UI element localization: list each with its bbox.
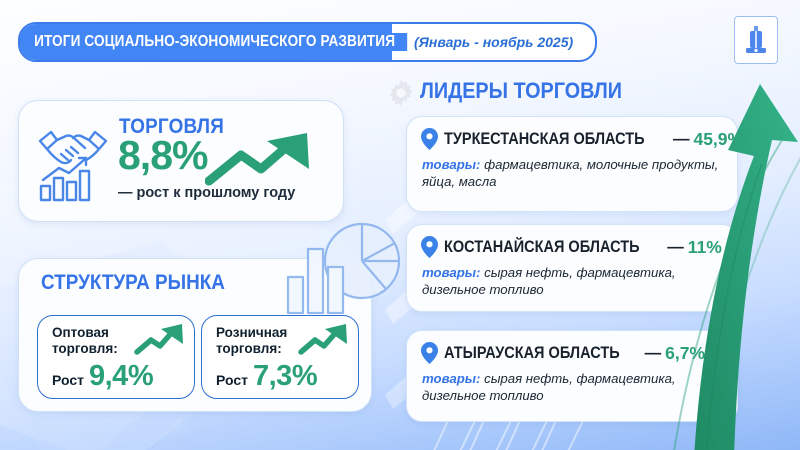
market-structure-title: СТРУКТУРА РЫНКА — [41, 271, 225, 295]
wholesale-label: Оптоваяторговля: — [52, 325, 118, 357]
big-green-up-arrow — [676, 78, 800, 450]
goods-label: товары: — [422, 157, 480, 172]
trade-subtitle: — рост к прошлому году — [118, 185, 295, 201]
monument-logo-icon — [743, 24, 769, 56]
handshake-bar-chart-icon — [35, 123, 111, 203]
header-title-container: ИТОГИ СОЦИАЛЬНО-ЭКОНОМИЧЕСКОГО РАЗВИТИЯ — [20, 24, 392, 60]
wholesale-growth-word: Рост — [52, 372, 84, 388]
map-pin-icon — [421, 342, 438, 364]
infographic-root: ИТОГИ СОЦИАЛЬНО-ЭКОНОМИЧЕСКОГО РАЗВИТИЯ … — [0, 0, 800, 450]
wholesale-growth: Рост 9,4% — [52, 362, 153, 391]
header-banner: ИТОГИ СОЦИАЛЬНО-ЭКОНОМИЧЕСКОГО РАЗВИТИЯ … — [18, 22, 597, 58]
map-pin-icon — [421, 128, 438, 150]
map-pin-icon — [421, 236, 438, 258]
trade-value: 8,8% — [118, 135, 207, 176]
trend-up-arrow-icon — [298, 322, 350, 356]
trend-up-arrow-icon — [205, 129, 317, 189]
wholesale-trade-card: Оптоваяторговля: Рост 9,4% — [37, 315, 195, 399]
leaders-header: ЛИДЕРЫ ТОРГОВЛИ — [420, 78, 644, 104]
pie-bar-chart-icon — [274, 219, 409, 324]
retail-growth: Рост 7,3% — [216, 362, 317, 391]
leaders-title: ЛИДЕРЫ ТОРГОВЛИ — [420, 78, 622, 104]
leader-region-name: КОСТАНАЙСКАЯ ОБЛАСТЬ — [444, 238, 640, 257]
leader-heading: АТЫРАУСКАЯ ОБЛАСТЬ — 6,7% — [421, 342, 705, 364]
retail-trade-card: Розничнаяторговля: Рост 7,3% — [201, 315, 359, 399]
retail-growth-value: 7,3% — [253, 362, 317, 391]
goods-label: товары: — [422, 265, 480, 280]
goods-label: товары: — [422, 371, 480, 386]
retail-label: Розничнаяторговля: — [216, 325, 287, 357]
wholesale-growth-value: 9,4% — [89, 362, 153, 391]
leader-dash: — — [645, 344, 662, 363]
retail-growth-word: Рост — [216, 372, 248, 388]
institution-logo — [734, 16, 778, 64]
leader-region-name: АТЫРАУСКАЯ ОБЛАСТЬ — [444, 344, 620, 363]
header-pill: ИТОГИ СОЦИАЛЬНО-ЭКОНОМИЧЕСКОГО РАЗВИТИЯ … — [18, 22, 597, 62]
market-structure-card: СТРУКТУРА РЫНКА Оптоваяторговля: Рост 9,… — [18, 258, 372, 412]
leader-region-name: ТУРКЕСТАНСКАЯ ОБЛАСТЬ — [444, 130, 645, 149]
trade-summary-card: ТОРГОВЛЯ 8,8% — рост к прошлому году — [18, 100, 344, 222]
trend-up-arrow-icon — [134, 322, 186, 356]
report-period: (Январь - ноябрь 2025) — [392, 24, 595, 60]
page-title: ИТОГИ СОЦИАЛЬНО-ЭКОНОМИЧЕСКОГО РАЗВИТИЯ — [20, 33, 407, 51]
gear-icon — [388, 80, 414, 106]
